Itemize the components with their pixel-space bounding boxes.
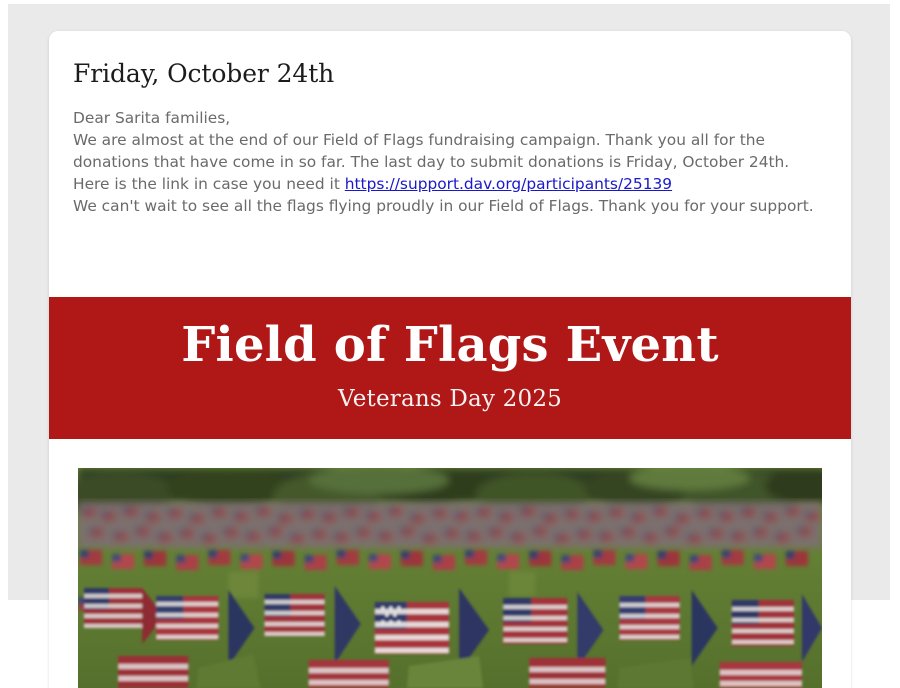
event-title: Field of Flags Event xyxy=(69,317,831,374)
letter-section: Friday, October 24th Dear Sarita familie… xyxy=(49,31,851,297)
letter-body: Dear Sarita families, We are almost at t… xyxy=(73,107,827,217)
page-title: Friday, October 24th xyxy=(73,59,827,89)
newsletter-card: Friday, October 24th Dear Sarita familie… xyxy=(49,31,851,688)
field-of-flags-illustration xyxy=(78,468,822,688)
event-banner: Field of Flags Event Veterans Day 2025 xyxy=(49,297,851,439)
field-of-flags-image xyxy=(78,468,822,688)
donation-link[interactable]: https://support.dav.org/participants/251… xyxy=(345,175,672,193)
salutation-line: Dear Sarita families, xyxy=(73,107,827,129)
campaign-paragraph: We are almost at the end of our Field of… xyxy=(73,129,827,173)
closing-paragraph: We can't wait to see all the flags flyin… xyxy=(73,195,827,217)
distant-flag-band xyxy=(78,502,822,548)
page-background: Friday, October 24th Dear Sarita familie… xyxy=(8,4,890,600)
photo-section xyxy=(49,439,851,688)
donation-link-line: Here is the link in case you need it htt… xyxy=(73,173,827,195)
event-subtitle: Veterans Day 2025 xyxy=(69,386,831,414)
link-lead-in-text: Here is the link in case you need it xyxy=(73,175,345,193)
